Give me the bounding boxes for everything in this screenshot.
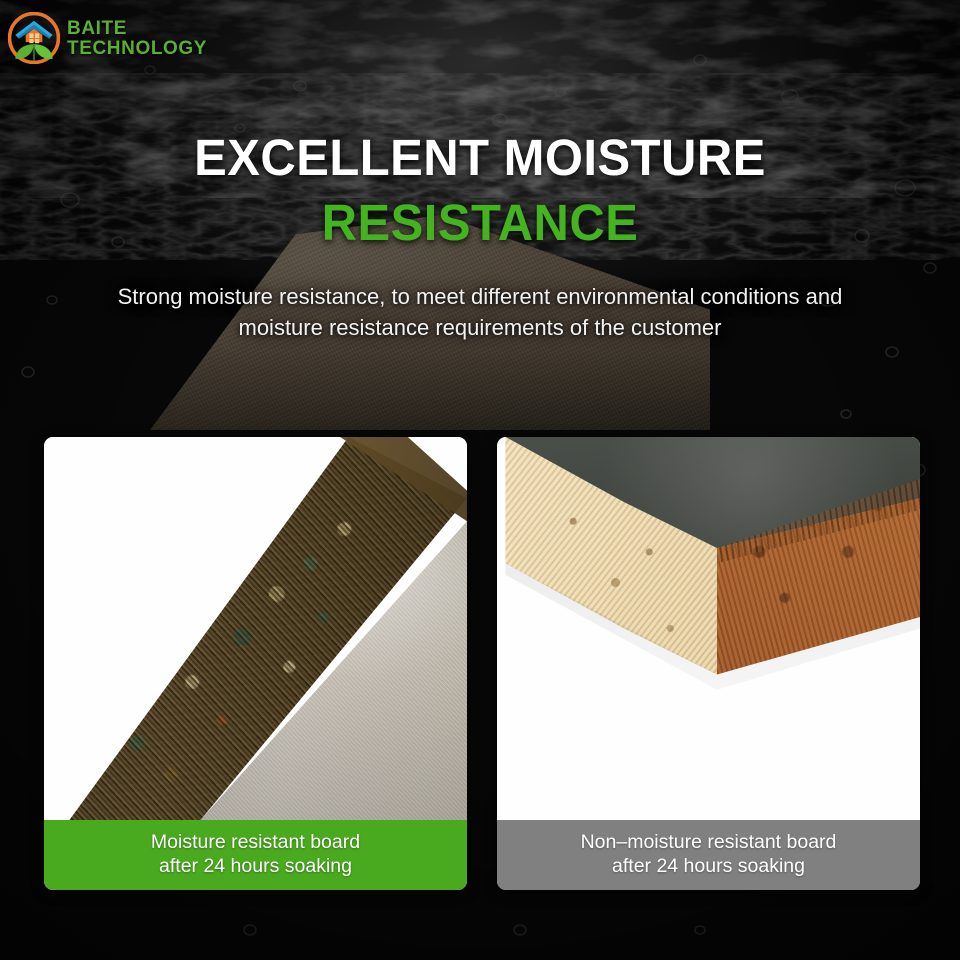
caption-left-line2: after 24 hours soaking [159,855,352,879]
subtitle: Strong moisture resistance, to meet diff… [70,281,890,343]
caption-non-moisture-resistant: Non–moisture resistant board after 24 ho… [497,820,920,890]
headline: EXCELLENT MOISTURE RESISTANCE [0,132,960,248]
poster-root: BAITE TECHNOLOGY EXCELLENT MOISTURE RESI… [0,0,960,960]
subtitle-line2: moisture resistance requirements of the … [70,312,890,343]
caption-left-line1: Moisture resistant board [151,831,360,855]
moisture-resistant-board-photo [44,437,467,820]
brand-name: BAITE TECHNOLOGY [67,19,207,58]
brand-name-line1: BAITE [67,19,207,38]
panel-moisture-resistant[interactable]: Moisture resistant board after 24 hours … [44,437,467,890]
house-leaf-logo-icon [8,12,60,64]
comparison-panels: Moisture resistant board after 24 hours … [44,437,920,890]
panel-non-moisture-resistant[interactable]: Non–moisture resistant board after 24 ho… [497,437,920,890]
particleboard-corner-graphic [497,437,920,820]
headline-line1: EXCELLENT MOISTURE [19,132,941,183]
caption-right-line2: after 24 hours soaking [612,855,805,879]
headline-line2: RESISTANCE [19,197,941,248]
non-moisture-resistant-board-photo [497,437,920,820]
caption-moisture-resistant: Moisture resistant board after 24 hours … [44,820,467,890]
board-slab-graphic [44,437,467,820]
brand-logo[interactable]: BAITE TECHNOLOGY [8,12,207,64]
caption-right-line1: Non–moisture resistant board [581,831,837,855]
brand-name-line2: TECHNOLOGY [67,39,207,58]
subtitle-line1: Strong moisture resistance, to meet diff… [70,281,890,312]
